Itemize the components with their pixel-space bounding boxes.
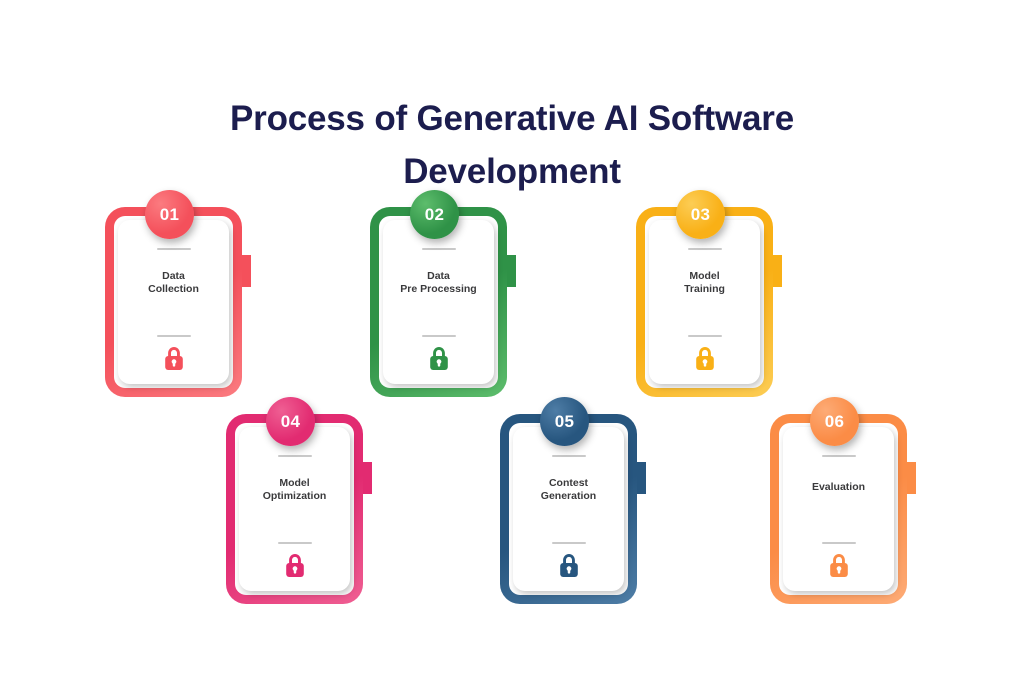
step-number-text: 04 [281,412,301,432]
divider-top [552,455,586,457]
lock-icon-06 [828,553,850,578]
divider-bottom [157,335,191,337]
infographic-canvas: Process of Generative AI Software Develo… [0,0,1024,699]
lock-icon-03 [694,346,716,371]
process-step-card-05[interactable]: Contest Generation 05 [500,414,637,604]
divider-top [688,248,722,250]
step-label-02: Data Pre Processing [394,270,482,296]
step-number-text: 03 [691,205,711,225]
divider-top [157,248,191,250]
process-step-card-03[interactable]: Model Training 03 [636,207,773,397]
divider-bottom [688,335,722,337]
lock-icon-02 [428,346,450,371]
step-number-badge-02: 02 [410,190,459,239]
lock-icon-01 [163,346,185,371]
step-label-06: Evaluation [806,481,871,494]
step-number-badge-01: 01 [145,190,194,239]
divider-bottom [278,542,312,544]
step-number-text: 02 [425,205,445,225]
step-inner-card: Data Pre Processing [383,220,494,384]
page-title-line-1: Process of Generative AI Software [0,92,1024,145]
step-number-badge-05: 05 [540,397,589,446]
lock-icon-05 [558,553,580,578]
lock-icon-04 [284,553,306,578]
process-step-card-01[interactable]: Data Collection 01 [105,207,242,397]
step-number-text: 01 [160,205,180,225]
step-label-03: Model Training [678,270,731,296]
step-number-badge-04: 04 [266,397,315,446]
process-step-card-06[interactable]: Evaluation 06 [770,414,907,604]
page-title-line-2: Development [0,145,1024,198]
divider-top [422,248,456,250]
process-step-card-02[interactable]: Data Pre Processing 02 [370,207,507,397]
step-inner-card: Model Training [649,220,760,384]
divider-bottom [552,542,586,544]
step-number-text: 06 [825,412,845,432]
divider-top [822,455,856,457]
step-number-text: 05 [555,412,575,432]
step-label-01: Data Collection [142,270,205,296]
step-inner-card: Model Optimization [239,427,350,591]
step-number-badge-03: 03 [676,190,725,239]
step-label-05: Contest Generation [535,477,602,503]
divider-bottom [422,335,456,337]
step-number-badge-06: 06 [810,397,859,446]
page-title: Process of Generative AI Software Develo… [0,92,1024,198]
step-inner-card: Data Collection [118,220,229,384]
process-step-card-04[interactable]: Model Optimization 04 [226,414,363,604]
step-inner-card: Evaluation [783,427,894,591]
step-label-04: Model Optimization [257,477,333,503]
divider-top [278,455,312,457]
divider-bottom [822,542,856,544]
step-inner-card: Contest Generation [513,427,624,591]
